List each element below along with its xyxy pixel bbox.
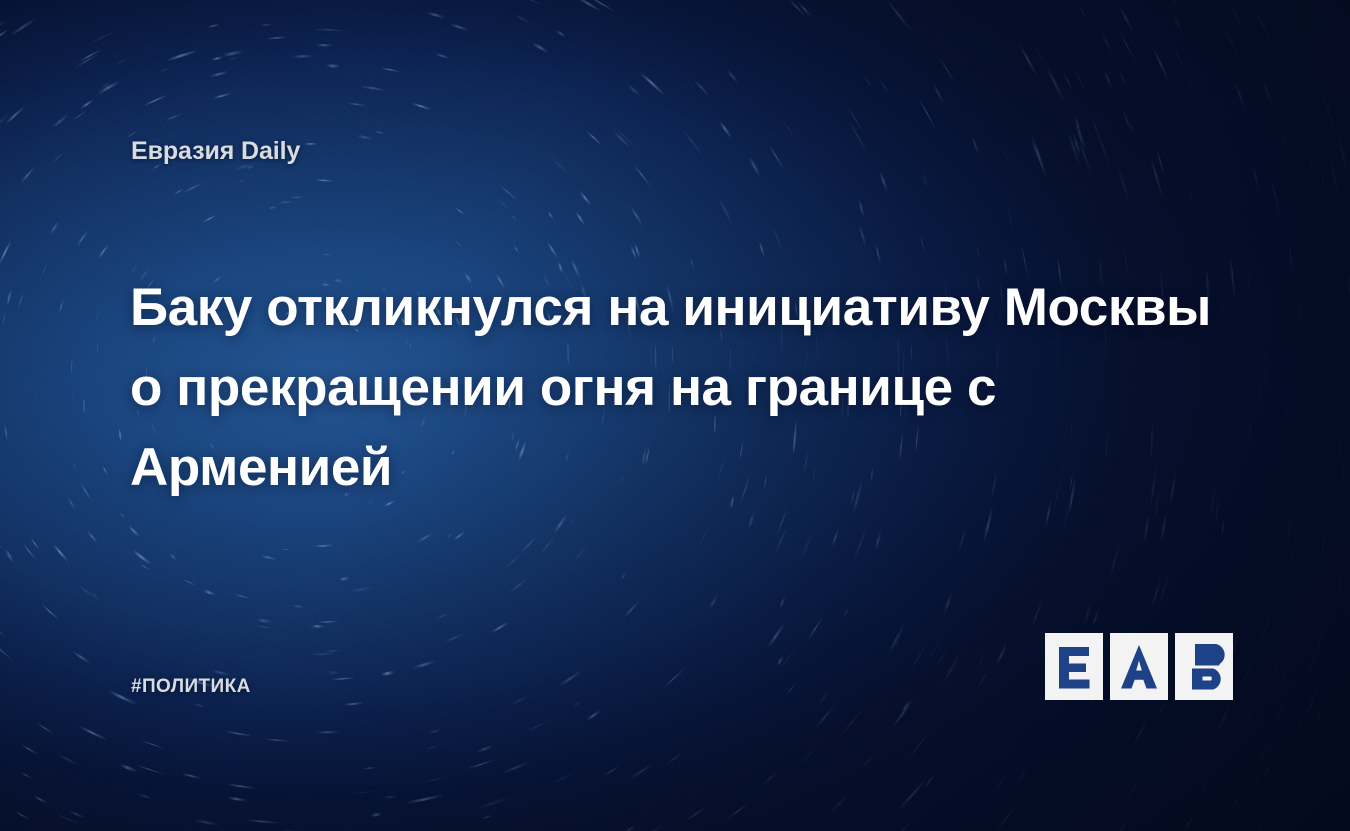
brand-label: Евразия Daily xyxy=(131,137,300,166)
news-card: Евразия Daily Баку откликнулся на инициа… xyxy=(0,0,1350,831)
category-hashtag: #ПОЛИТИКА xyxy=(131,676,251,698)
headline: Баку откликнулся на инициативу Москвы о … xyxy=(130,268,1240,508)
logo-tile-d xyxy=(1175,633,1233,700)
eadaily-logo[interactable] xyxy=(1045,633,1233,700)
card-content: Евразия Daily Баку откликнулся на инициа… xyxy=(0,0,1350,831)
logo-tile-e xyxy=(1045,633,1103,700)
logo-tile-a xyxy=(1110,633,1168,700)
